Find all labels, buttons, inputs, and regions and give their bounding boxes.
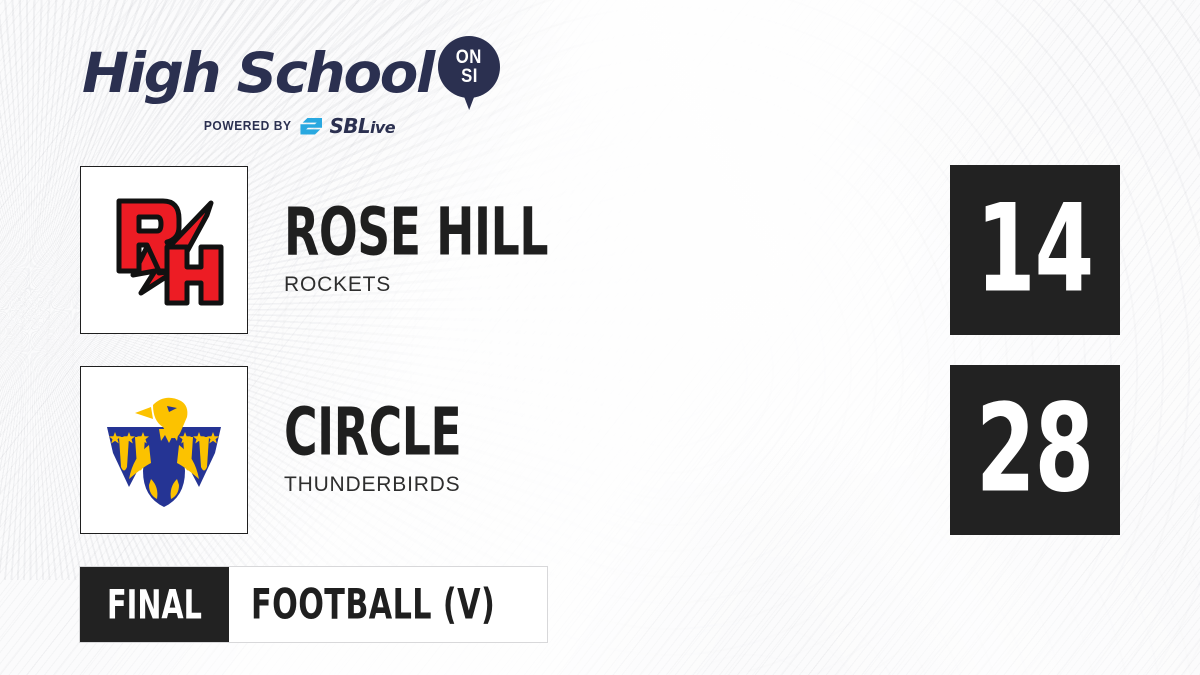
circle-logo-art (89, 375, 239, 525)
partner-name: SBL (329, 114, 370, 138)
powered-by-label: POWERED BY (204, 119, 292, 133)
partner-wordmark: SBLive (329, 116, 395, 136)
sport-label-container: FOOTBALL (V) (229, 567, 547, 642)
status-badge: FINAL (80, 567, 229, 642)
scoreboard-graphic: High School ON SI POWERED BY SBLive (0, 0, 1200, 675)
team-mascot: ROCKETS (284, 273, 606, 297)
score-value: 28 (976, 390, 1093, 511)
map-pin-label: ON SI (438, 36, 500, 98)
badge-text-si: SI (461, 68, 478, 85)
team-row: CIRCLE THUNDERBIRDS (80, 366, 500, 534)
badge-text-on: ON (456, 49, 482, 66)
score-value: 14 (976, 190, 1093, 311)
status-badge-label: FINAL (107, 581, 202, 627)
team-text-block: CIRCLE THUNDERBIRDS (284, 403, 500, 497)
map-pin-icon: ON SI (438, 36, 500, 110)
partner-suffix: ive (370, 118, 395, 137)
powered-by-row: POWERED BY SBLive (82, 116, 500, 136)
team-name: CIRCLE (284, 401, 461, 463)
team-row: ROSE HILL ROCKETS (80, 166, 606, 334)
circle-thunderbirds-logo (80, 366, 248, 534)
brand-title: High School (82, 46, 433, 101)
rose-hill-logo-art (89, 175, 239, 325)
team-mascot: THUNDERBIRDS (284, 473, 500, 497)
score-box: 14 (950, 165, 1120, 335)
sport-label: FOOTBALL (V) (251, 580, 495, 628)
game-status-bar: FINAL FOOTBALL (V) (79, 566, 548, 643)
brand-lockup: High School ON SI POWERED BY SBLive (82, 36, 500, 136)
rose-hill-rockets-logo (80, 166, 248, 334)
sblive-s-mark-icon (300, 118, 322, 135)
team-name: ROSE HILL (284, 201, 548, 263)
team-text-block: ROSE HILL ROCKETS (284, 203, 606, 297)
score-box: 28 (950, 365, 1120, 535)
brand-title-row: High School ON SI (82, 36, 500, 110)
